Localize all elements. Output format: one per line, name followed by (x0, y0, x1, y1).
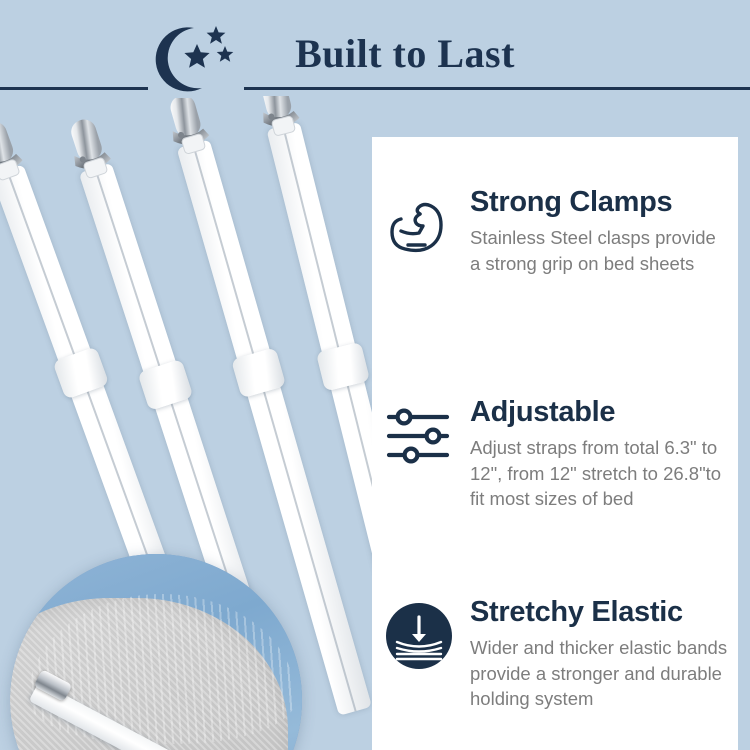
flexed-bicep-icon (384, 191, 454, 261)
feature-description: Wider and thicker elastic bands provide … (470, 635, 728, 712)
product-photo (0, 96, 400, 750)
sliders-adjust-icon (384, 401, 454, 471)
strap-slider-4 (316, 342, 370, 392)
header: Built to Last (0, 0, 750, 110)
feature-text-block: Strong Clamps Stainless Steel clasps pro… (470, 185, 728, 276)
feature-title: Stretchy Elastic (470, 595, 728, 629)
header-divider (0, 87, 750, 90)
feature-description: Stainless Steel clasps provide a strong … (470, 225, 728, 276)
strap-slider-2 (137, 359, 193, 411)
right-background-strip (738, 0, 750, 750)
metal-clamp-icon (0, 112, 36, 192)
feature-text-block: Adjustable Adjust straps from total 6.3"… (470, 395, 728, 512)
feature-description: Adjust straps from total 6.3" to 12", fr… (470, 435, 728, 512)
metal-clamp-icon (54, 111, 124, 190)
strap-slider-3 (231, 347, 286, 398)
features-panel: Strong Clamps Stainless Steel clasps pro… (372, 137, 738, 750)
feature-title: Strong Clamps (470, 185, 728, 219)
clip-1 (0, 112, 36, 192)
elastic-compression-icon (384, 601, 454, 671)
infographic-canvas: Strong Clamps Stainless Steel clasps pro… (0, 0, 750, 750)
feature-text-block: Stretchy Elastic Wider and thicker elast… (470, 595, 728, 712)
page-title: Built to Last (0, 30, 750, 77)
clip-2 (54, 111, 124, 190)
feature-title: Adjustable (470, 395, 728, 429)
strap-slider-1 (52, 346, 109, 399)
closeup-inset-photo (10, 554, 302, 750)
